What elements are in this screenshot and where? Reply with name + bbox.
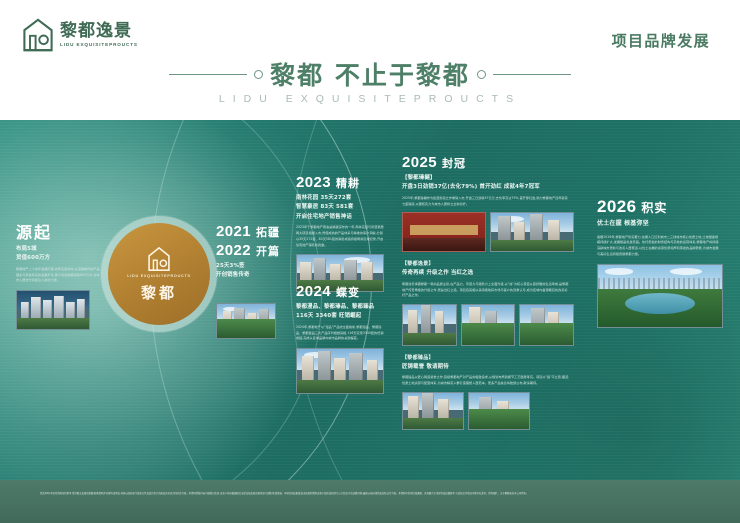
photo-building [330, 264, 341, 282]
milestone-2025-lead: 【黎都瑧樾】 开盘3日劲销37亿(去化79%) 首开劲红 成就4年7冠军 [402, 174, 574, 193]
photo-building [367, 360, 378, 382]
photo-crowd [403, 238, 485, 251]
photo-building [334, 358, 346, 382]
photo-ground [520, 323, 573, 345]
photo-building [498, 216, 511, 241]
milestone-2023-body: 2023年于黎都地产而言是精耕深作的一年,南林花园与智慧豪居两大项目相继入市,凭… [296, 225, 384, 248]
photo-cloud [670, 268, 702, 275]
milestone-2024-word: 蝶变 [336, 287, 360, 298]
photo-building [408, 396, 419, 419]
photo-building [21, 302, 29, 319]
milestone-2021-title: 2021 拓疆 [216, 224, 290, 239]
milestone-2026-photo [597, 264, 723, 328]
milestone-2024-body: 2024年,黎都地产以"漫品"产品线全面焕新,黎都漫品、黎都瑧品、黎都臻品三大产… [296, 325, 384, 342]
milestone-2023-title: 2023 精耕 [296, 175, 388, 190]
milestone-origin-body: 黎都地产二十余年发展历程,布局五座城市,以深耕精作的产品理念与稳健务实的发展步伐… [16, 267, 100, 284]
photo-ground [403, 418, 463, 429]
milestone-2025-photo-row-1 [402, 212, 574, 252]
house-logo-icon [22, 18, 54, 52]
milestone-2023: 2023 精耕 南林花园 35天272套 智慧豪居 83天 581套 开启住宅地… [296, 175, 388, 292]
milestone-2026-lead: 优土在握 根基弥坚 [597, 219, 725, 230]
photo-building [302, 356, 314, 382]
timeline-board: LIDU EXQUISITEPROUCTS 黎都 源起 布局5城 货值600万方… [0, 120, 740, 480]
photo-building [349, 353, 363, 382]
headline-rule-left [169, 74, 247, 75]
brand-medallion: LIDU EXQUISITEPROUCTS 黎都 [108, 223, 210, 325]
photo-ground [297, 380, 383, 393]
headline-row: 黎都 不止于黎都 [0, 56, 740, 92]
photo-ground [403, 333, 456, 345]
page-title: 黎都 不止于黎都 [270, 56, 470, 92]
milestone-2023-word: 精耕 [336, 178, 360, 189]
photo-building [438, 399, 449, 420]
milestone-origin-lead: 布局5城 货值600万方 [16, 245, 108, 264]
section-body-liduzhenpin: 黎都臻品以匠心铸造载誉之作,延续黎都地产对产品的极致追求,从规划布局到细节工艺层… [402, 375, 570, 386]
photo-building [43, 300, 52, 319]
photo-ground [469, 409, 529, 429]
milestone-2023-lead: 南林花园 35天272套 智慧豪居 83天 581套 开启住宅地产销售神话 [296, 194, 388, 222]
milestone-origin-word: 源起 [16, 225, 52, 241]
section-title-liduyijing: 【黎都逸景】 [402, 260, 574, 267]
milestone-2024-title: 2024 蝶变 [296, 284, 388, 299]
brand-logo: 黎都逸景 LIDU EXQUISITEPROUCTS [22, 18, 138, 52]
milestone-origin-title: 源起 [16, 225, 108, 241]
headline-dot-left [254, 70, 263, 79]
milestone-2023-year: 2023 [296, 175, 331, 190]
milestone-2025-title: 2025 封冠 [402, 155, 574, 170]
milestone-2026-title: 2026 积实 [597, 198, 725, 215]
milestone-2022-photo [216, 303, 276, 339]
medallion-en: LIDU EXQUISITEPROUCTS [127, 274, 190, 278]
milestone-2025-year: 2025 [402, 155, 437, 170]
poster-page: 黎都逸景 LIDU EXQUISITEPROUCTS 项目品牌发展 黎都 不止于… [0, 0, 740, 523]
milestone-2025-section-liduyijing: 【黎都逸景】 传奇再续 升级之作 当红之选 黎都逸景承袭黎都一贯的品质主张,在产… [402, 260, 574, 346]
photo-building [435, 311, 444, 334]
photo-lake [625, 293, 694, 314]
milestone-2021-2022-lead: 25天3%签 开创销售传奇 [216, 262, 290, 281]
section-photo-row-liduyijing [402, 304, 574, 346]
photo-building [300, 262, 311, 281]
milestone-2022-word: 开篇 [256, 246, 280, 257]
photo-sky [520, 305, 573, 324]
photo-building [548, 220, 560, 241]
milestone-2025-body: 2025年,黎都瑧樾作为集团封冠之作重磅入市,开盘三日劲销37亿元,去化率高达7… [402, 196, 570, 207]
milestone-2026-word: 积实 [641, 202, 667, 214]
photo-building [66, 302, 75, 319]
milestone-2021-2022: 2021 拓疆 2022 开篇 25天3%签 开创销售传奇 [216, 224, 290, 339]
photo-building [314, 258, 326, 282]
section-photo [461, 304, 516, 346]
headline-dot-right [477, 70, 486, 79]
milestone-origin: 源起 布局5城 货值600万方 黎都地产二十余年发展历程,布局五座城市,以深耕精… [16, 225, 108, 330]
milestone-2024-lead: 黎都漫品、黎都瑧品、黎都臻品 116天 3340套 旺销崛起 [296, 303, 388, 322]
photo-building [344, 260, 357, 282]
milestone-2024-photo [296, 348, 384, 394]
milestone-2025-photo-event [402, 212, 486, 252]
photo-building [31, 297, 40, 319]
milestone-2021-word: 拓疆 [256, 227, 280, 238]
milestone-2022-title: 2022 开篇 [216, 243, 290, 258]
house-logo-icon [146, 246, 172, 272]
section-photo [402, 304, 457, 346]
photo-building [422, 393, 434, 420]
photo-building [361, 262, 373, 282]
page-subtitle: LIDU EXQUISITEPROUCTS [0, 93, 740, 105]
milestone-2025-section-liduzhenpin: 【黎都臻品】 匠铸载誉 敬请期待 黎都臻品以匠心铸造载誉之作,延续黎都地产对产品… [402, 354, 574, 430]
milestone-2026-body: 着眼2026年,黎都地产积实蓄力,坐拥人口红利城市二三线城市核心优质土地,土地储… [597, 235, 721, 258]
milestone-2022-year: 2022 [216, 243, 251, 258]
section-photo-row-liduzhenpin [402, 392, 574, 430]
section-photo [519, 304, 574, 346]
medallion-cn: 黎都 [141, 282, 177, 303]
photo-building [421, 305, 432, 335]
header-tagline: 项目品牌发展 [612, 30, 710, 51]
disclaimer-band: 免责声明:本宣传资料仅供参考,所涉图文及相关数据/影像资料并非要约或承诺,具体以… [0, 480, 740, 523]
disclaimer-text: 免责声明:本宣传资料仅供参考,所涉图文及相关数据/影像资料并非要约或承诺,具体以… [40, 491, 700, 496]
milestone-origin-photo [16, 290, 90, 330]
brand-logo-text: 黎都逸景 LIDU EXQUISITEPROUCTS [60, 23, 138, 48]
milestone-2026-year: 2026 [597, 198, 636, 215]
photo-building [77, 299, 86, 320]
milestone-2024-year: 2024 [296, 284, 331, 299]
section-photo [402, 392, 464, 430]
page-header: 黎都逸景 LIDU EXQUISITEPROUCTS 项目品牌发展 黎都 不止于… [0, 0, 740, 120]
photo-building [54, 296, 64, 320]
photo-ground [462, 323, 515, 345]
headline-rule-right [493, 74, 571, 75]
photo-banner [410, 225, 479, 235]
photo-building [408, 310, 417, 335]
milestone-2021-year: 2021 [216, 224, 251, 239]
section-body-liduyijing: 黎都逸景承袭黎都一贯的品质主张,在产品力、景观力与服务力上全面升级,以"逸"为核… [402, 282, 570, 299]
milestone-2026: 2026 积实 优土在握 根基弥坚 着眼2026年,黎都地产积实蓄力,坐拥人口红… [597, 198, 725, 328]
brand-logo-en: LIDU EXQUISITEPROUCTS [60, 43, 138, 48]
photo-building [514, 222, 525, 241]
milestone-2025-word: 封冠 [442, 158, 466, 169]
photo-ground [491, 240, 573, 251]
section-lead-liduzhenpin: 匠铸载誉 敬请期待 [402, 363, 574, 372]
photo-building [530, 214, 544, 241]
section-title-liduzhenpin: 【黎都臻品】 [402, 354, 574, 361]
brand-logo-cn: 黎都逸景 [60, 23, 138, 40]
photo-ground [17, 318, 89, 329]
photo-cloud [605, 268, 632, 274]
milestone-2025: 2025 封冠 【黎都瑧樾】 开盘3日劲销37亿(去化79%) 首开劲红 成就4… [402, 155, 574, 430]
section-lead-liduyijing: 传奇再续 升级之作 当红之选 [402, 269, 574, 278]
photo-ground [217, 319, 275, 338]
section-photo [468, 392, 530, 430]
milestone-2025-photo-tower [490, 212, 574, 252]
milestone-2024: 2024 蝶变 黎都漫品、黎都瑧品、黎都臻品 116天 3340套 旺销崛起 2… [296, 284, 388, 394]
photo-building [318, 351, 331, 382]
